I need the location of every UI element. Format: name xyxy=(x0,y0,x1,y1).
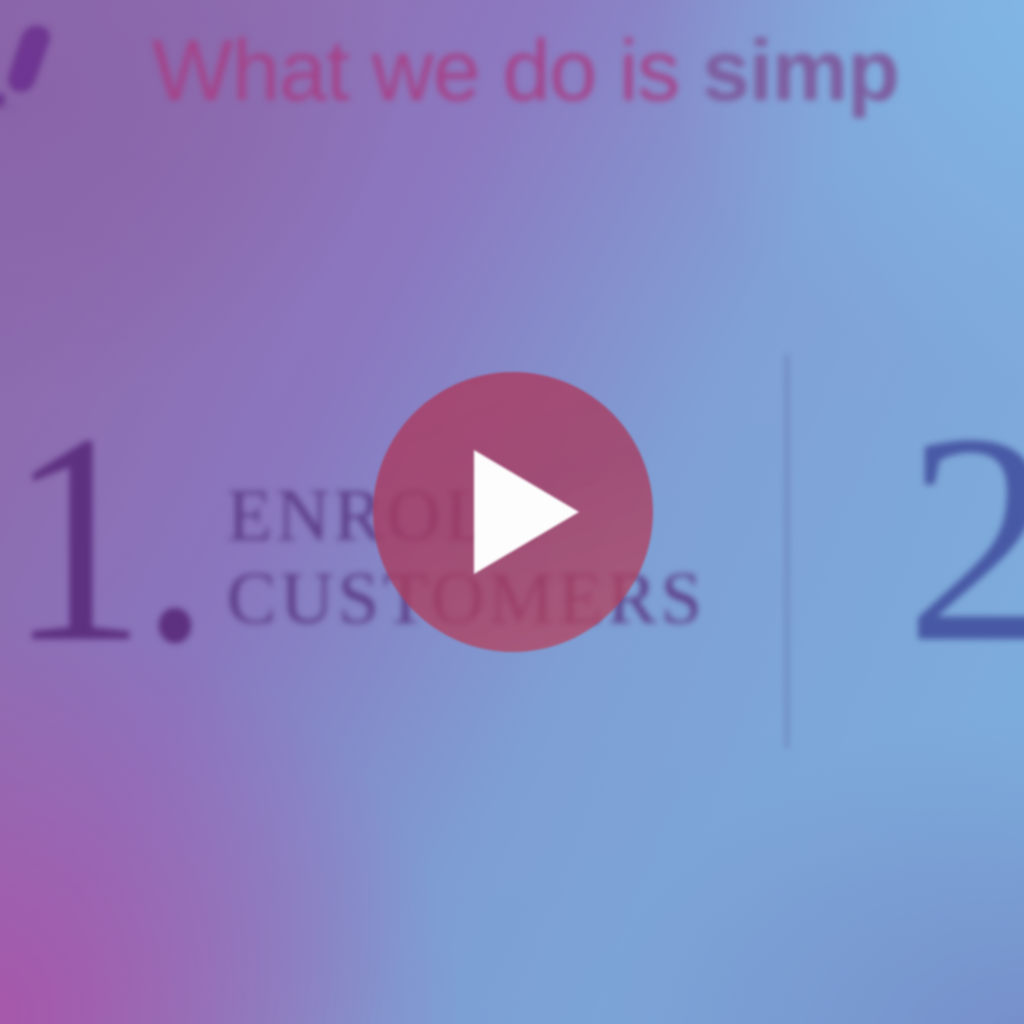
step-one-numeral: 1. xyxy=(8,430,204,646)
play-button[interactable] xyxy=(373,372,653,652)
headline-bold: simp xyxy=(702,23,899,119)
video-frame: TER. What we do is simp 1. ENROLL CUSTOM… xyxy=(0,0,1024,1024)
step-two-numeral: 2 xyxy=(905,430,1024,646)
headline-light: What we do is xyxy=(152,23,702,119)
slide-headline: What we do is simp xyxy=(152,28,899,114)
brand-tagline: TER. xyxy=(0,96,18,113)
column-divider xyxy=(786,355,788,748)
play-triangle-icon xyxy=(474,450,579,574)
